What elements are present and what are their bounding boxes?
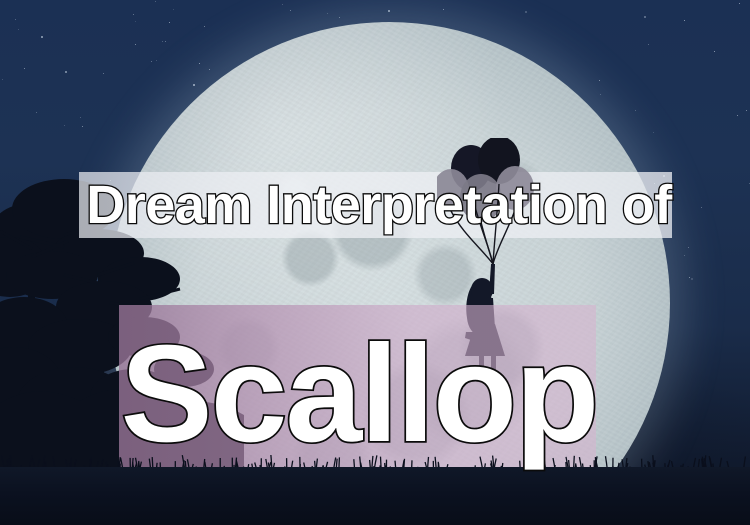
dream-interpretation-banner: Dream Interpretation of Scallop [0, 0, 750, 525]
page-title: Dream Interpretation of [79, 166, 679, 244]
dream-keyword: Scallop [119, 306, 599, 482]
